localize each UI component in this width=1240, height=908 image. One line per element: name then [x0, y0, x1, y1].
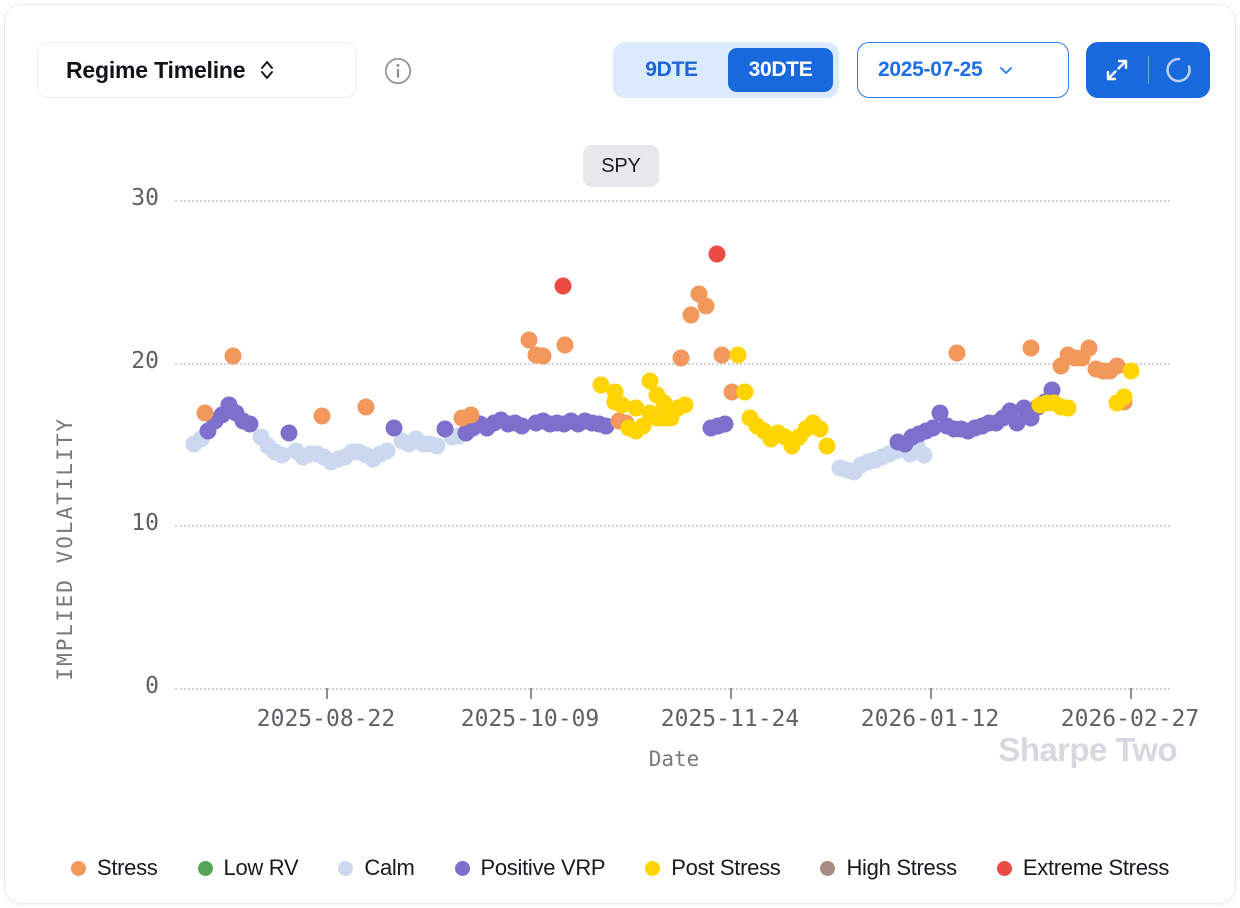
- scatter-point[interactable]: [714, 346, 731, 363]
- x-axis-tick-mark: [930, 688, 932, 699]
- legend-item-label: Positive VRP: [481, 855, 606, 881]
- scatter-point[interactable]: [683, 307, 700, 324]
- y-axis-tick-label: 10: [99, 510, 159, 536]
- scatter-point[interactable]: [1060, 400, 1077, 417]
- scatter-point[interactable]: [314, 408, 331, 425]
- dte-toggle-group: 9DTE 30DTE: [613, 42, 839, 98]
- legend-item[interactable]: Stress: [71, 855, 158, 881]
- info-circle-icon[interactable]: [384, 57, 412, 85]
- refresh-icon: [1164, 55, 1194, 85]
- x-axis-tick-label: 2025-08-22: [257, 706, 395, 732]
- scatter-point[interactable]: [1123, 362, 1140, 379]
- scatter-point[interactable]: [225, 348, 242, 365]
- y-axis-tick-label: 30: [99, 185, 159, 211]
- x-axis-tick-mark: [1130, 688, 1132, 699]
- scatter-point[interactable]: [1116, 388, 1133, 405]
- grid-line: [175, 363, 1170, 365]
- x-axis-tick-mark: [530, 688, 532, 699]
- scatter-chart: SPY IMPLIED VOLATILITY Date Sharpe Two 3…: [5, 117, 1235, 797]
- dte-option-9dte[interactable]: 9DTE: [619, 48, 724, 92]
- grid-line: [175, 200, 1170, 202]
- chevron-up-down-icon: [259, 58, 275, 82]
- legend-swatch-icon: [71, 861, 86, 876]
- x-axis-tick-label: 2026-01-12: [861, 706, 999, 732]
- scatter-point[interactable]: [709, 245, 726, 262]
- chart-toolbar: Regime Timeline 9DTE 30DTE 2025-07-25: [5, 5, 1235, 117]
- scatter-point[interactable]: [730, 346, 747, 363]
- legend-item-label: Extreme Stress: [1023, 855, 1169, 881]
- legend-item-label: Post Stress: [671, 855, 780, 881]
- legend-item-label: Calm: [364, 855, 414, 881]
- date-picker-value: 2025-07-25: [878, 58, 982, 82]
- legend-item-label: High Stress: [846, 855, 956, 881]
- chevron-down-icon: [996, 60, 1016, 80]
- scatter-point[interactable]: [698, 297, 715, 314]
- chart-legend: StressLow RVCalmPositive VRPPost StressH…: [5, 855, 1235, 881]
- scatter-point[interactable]: [557, 336, 574, 353]
- scatter-point[interactable]: [358, 398, 375, 415]
- scatter-point[interactable]: [463, 406, 480, 423]
- legend-item[interactable]: Calm: [338, 855, 414, 881]
- x-axis-tick-mark: [326, 688, 328, 699]
- chart-action-group: [1086, 42, 1210, 98]
- legend-swatch-icon: [997, 861, 1012, 876]
- scatter-point[interactable]: [819, 437, 836, 454]
- grid-line: [175, 688, 1170, 690]
- expand-button[interactable]: [1086, 56, 1148, 84]
- legend-item-label: Low RV: [224, 855, 299, 881]
- y-axis-tick-label: 20: [99, 348, 159, 374]
- legend-swatch-icon: [645, 861, 660, 876]
- x-axis-tick-mark: [730, 688, 732, 699]
- scatter-point[interactable]: [737, 383, 754, 400]
- view-selector-label: Regime Timeline: [66, 57, 245, 84]
- scatter-point[interactable]: [437, 421, 454, 438]
- legend-item[interactable]: Extreme Stress: [997, 855, 1169, 881]
- legend-item[interactable]: Low RV: [198, 855, 299, 881]
- refresh-button[interactable]: [1149, 55, 1211, 85]
- scatter-point[interactable]: [677, 396, 694, 413]
- scatter-point[interactable]: [379, 442, 396, 459]
- chart-watermark: Sharpe Two: [998, 731, 1177, 769]
- legend-swatch-icon: [820, 861, 835, 876]
- scatter-point[interactable]: [717, 416, 734, 433]
- scatter-point[interactable]: [197, 405, 214, 422]
- y-axis-label: IMPLIED VOLATILITY: [53, 417, 77, 681]
- chart-title-chip: SPY: [583, 145, 659, 187]
- scatter-point[interactable]: [812, 421, 829, 438]
- grid-line: [175, 525, 1170, 527]
- legend-item[interactable]: High Stress: [820, 855, 956, 881]
- scatter-point[interactable]: [242, 416, 259, 433]
- x-axis-label: Date: [649, 747, 700, 771]
- legend-item-label: Stress: [97, 855, 158, 881]
- scatter-point[interactable]: [555, 278, 572, 295]
- plot-area: 30201002025-08-222025-10-092025-11-24202…: [175, 200, 1170, 688]
- scatter-point[interactable]: [916, 447, 933, 464]
- scatter-point[interactable]: [1023, 340, 1040, 357]
- scatter-point[interactable]: [281, 424, 298, 441]
- date-picker[interactable]: 2025-07-25: [857, 42, 1069, 98]
- scatter-point[interactable]: [1081, 340, 1098, 357]
- expand-arrows-icon: [1103, 56, 1131, 84]
- scatter-point[interactable]: [673, 349, 690, 366]
- legend-swatch-icon: [455, 861, 470, 876]
- scatter-point[interactable]: [535, 348, 552, 365]
- legend-swatch-icon: [338, 861, 353, 876]
- scatter-point[interactable]: [949, 344, 966, 361]
- view-selector[interactable]: Regime Timeline: [37, 42, 357, 98]
- x-axis-tick-label: 2025-11-24: [661, 706, 799, 732]
- y-axis-tick-label: 0: [99, 673, 159, 699]
- legend-item[interactable]: Positive VRP: [455, 855, 606, 881]
- dte-option-30dte[interactable]: 30DTE: [728, 48, 833, 92]
- regime-timeline-card: Regime Timeline 9DTE 30DTE 2025-07-25: [4, 4, 1236, 904]
- scatter-point[interactable]: [628, 400, 645, 417]
- x-axis-tick-label: 2026-02-27: [1061, 706, 1199, 732]
- legend-swatch-icon: [198, 861, 213, 876]
- legend-item[interactable]: Post Stress: [645, 855, 780, 881]
- scatter-point[interactable]: [386, 419, 403, 436]
- x-axis-tick-label: 2025-10-09: [461, 706, 599, 732]
